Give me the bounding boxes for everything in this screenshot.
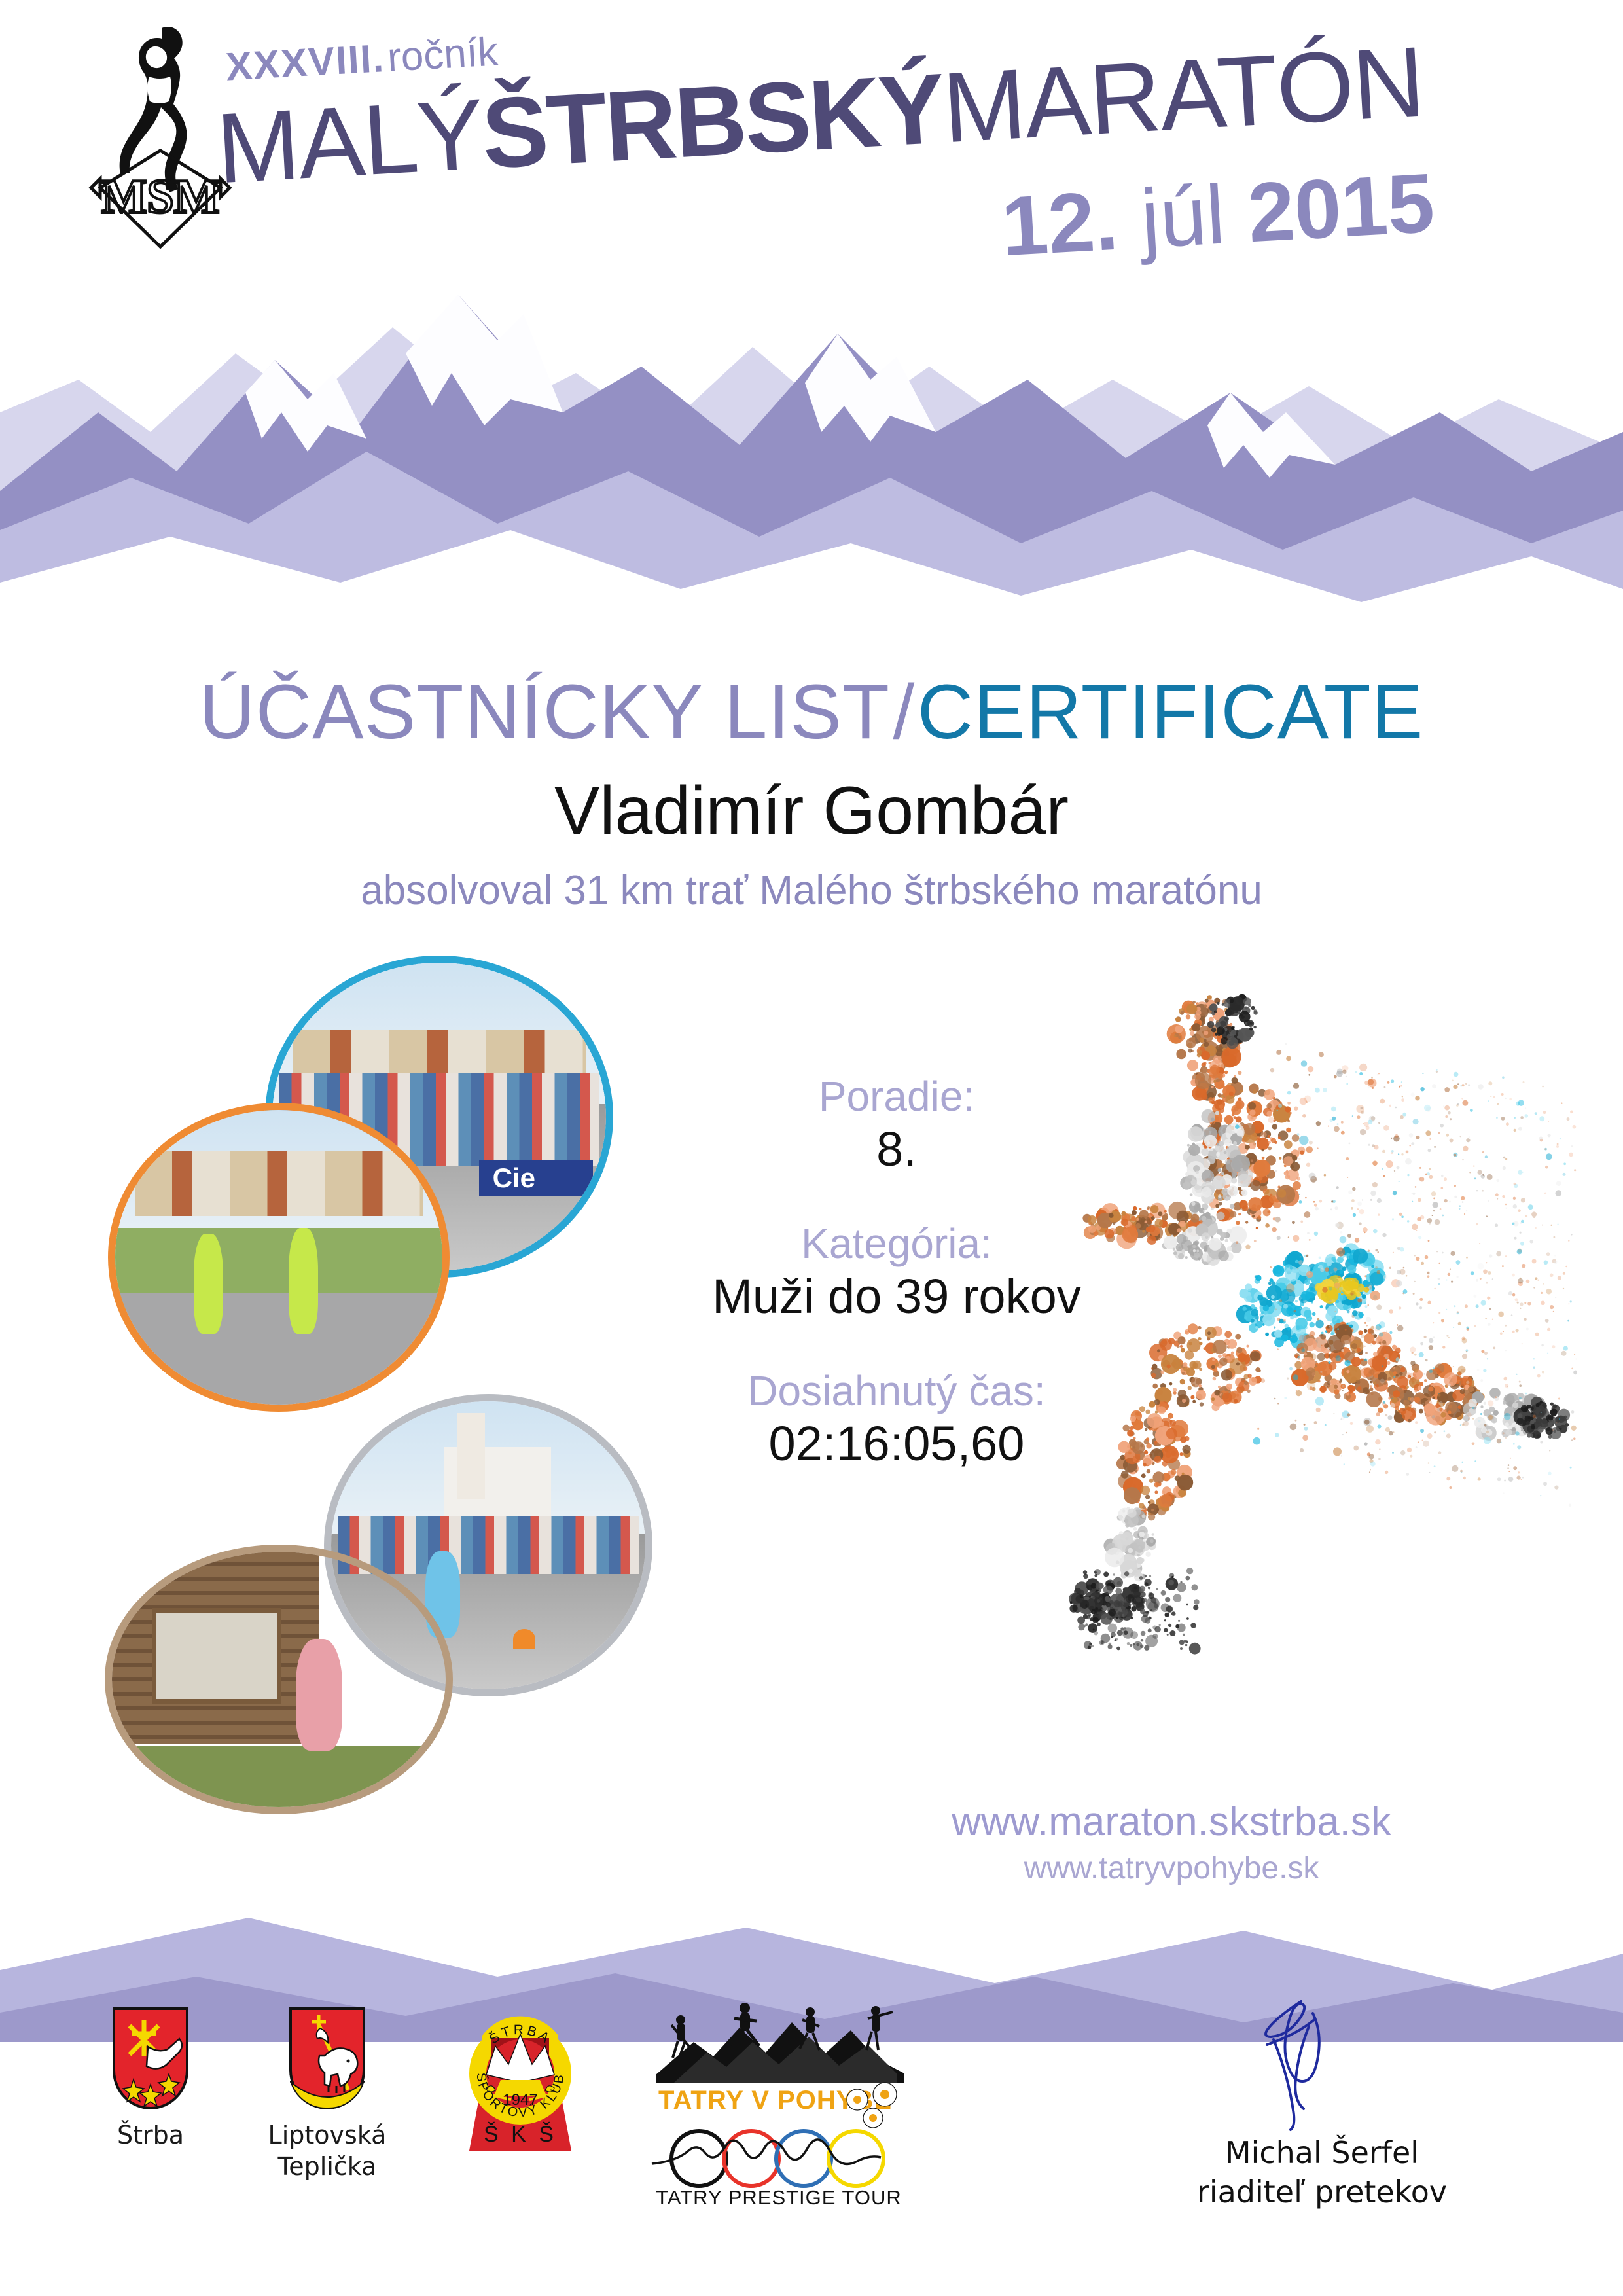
- footer-logo-sks-club: 1947 ŠTRBA ŠPORTOVÝ KLUB Š K Š: [445, 1996, 596, 2153]
- photo-collage: Cie: [92, 936, 668, 1800]
- footer-logo-liptovska-teplicka: Liptovská Teplička: [249, 2006, 406, 2182]
- sks-abbrev-text: Š K Š: [484, 2122, 557, 2147]
- participant-name: Vladimír Gombár: [0, 772, 1623, 850]
- header: MSM XXXVIII. ročník MALÝŠTRBSKÝMARATÓN 1…: [0, 0, 1623, 641]
- edition-number: XXXVIII.: [224, 36, 385, 88]
- certificate-subtitle: absolvoval 31 km trať Malého štrbského m…: [0, 867, 1623, 914]
- footer-logo-strba: Štrba: [79, 2006, 223, 2151]
- certificate-page: MSM XXXVIII. ročník MALÝŠTRBSKÝMARATÓN 1…: [0, 0, 1623, 2296]
- race-director-signature-icon: [1217, 1996, 1427, 2134]
- footer-logo-tatry-v-pohybe: TATRY V POHYBE: [641, 1996, 916, 2212]
- crest-liptovska-teplicka-icon: [288, 2006, 366, 2111]
- certificate-title: ÚČASTNÍCKY LIST / CERTIFICATE: [0, 668, 1623, 757]
- tatry-prestige-tour-title: TATRY PRESTIGE TOUR: [656, 2186, 902, 2209]
- title-part-strbsky: ŠTRBSKÝ: [479, 53, 946, 190]
- title-part-maly: MALÝ: [214, 79, 486, 204]
- mountain-graphic: [0, 216, 1623, 648]
- footer: Štrba: [0, 1990, 1623, 2265]
- edition-word: ročník: [386, 29, 499, 80]
- signature-role: riaditeľ pretekov: [1113, 2173, 1531, 2212]
- certificate-title-sk: ÚČASTNÍCKY LIST: [200, 669, 890, 755]
- photo-woman-runner: [105, 1545, 453, 1814]
- secondary-url[interactable]: www.tatryvpohybe.sk: [772, 1848, 1571, 1890]
- website-links: www.maraton.skstrba.sk www.tatryvpohybe.…: [772, 1797, 1571, 1890]
- splash-runner-graphic: [1008, 962, 1577, 1748]
- certificate-title-en: CERTIFICATE: [918, 669, 1424, 755]
- signature-person-name: Michal Šerfel: [1113, 2134, 1531, 2173]
- crest-strba-caption: Štrba: [79, 2120, 223, 2151]
- crest-strba-icon: [111, 2006, 190, 2111]
- crest-liptovska-teplicka-caption: Liptovská Teplička: [249, 2120, 406, 2182]
- sks-club-logo-icon: 1947 ŠTRBA ŠPORTOVÝ KLUB Š K Š: [455, 1996, 586, 2153]
- signature-block: Michal Šerfel riaditeľ pretekov: [1113, 1996, 1531, 2212]
- photo-banner-text: Cie: [493, 1162, 535, 1194]
- photo-two-runners: [108, 1103, 450, 1412]
- certificate-title-separator: /: [893, 669, 914, 755]
- title-part-maraton: MARATÓN: [940, 26, 1426, 164]
- tatry-v-pohybe-icon: TATRY V POHYBE: [648, 1996, 910, 2212]
- primary-url[interactable]: www.maraton.skstrba.sk: [772, 1797, 1571, 1848]
